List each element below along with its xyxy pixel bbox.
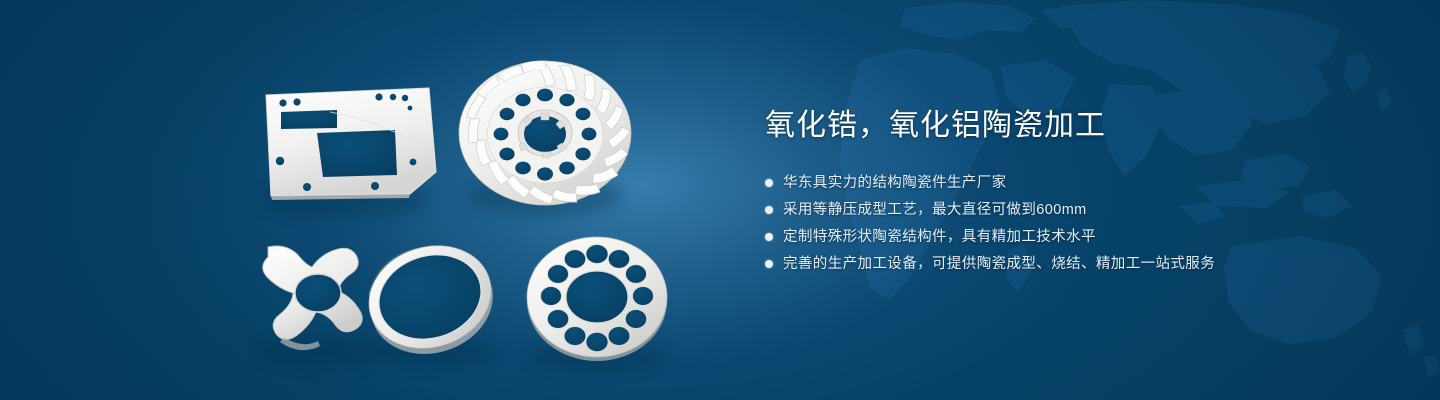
banner-text-column: 氧化锆，氧化铝陶瓷加工 华东具实力的结构陶瓷件生产厂家 采用等静压成型工艺，最大… [765,106,1385,280]
bullet-dot-icon [765,206,773,214]
list-item-label: 采用等静压成型工艺，最大直径可做到600mm [783,199,1087,221]
list-item-label: 华东具实力的结构陶瓷件生产厂家 [783,172,1007,194]
ceramic-cross-vane [263,246,363,350]
product-photo-group [0,0,760,400]
feature-list: 华东具实力的结构陶瓷件生产厂家 采用等静压成型工艺，最大直径可做到600mm 定… [765,172,1385,275]
bullet-dot-icon [765,260,773,268]
hero-banner: 氧化锆，氧化铝陶瓷加工 华东具实力的结构陶瓷件生产厂家 采用等静压成型工艺，最大… [0,0,1440,400]
list-item: 完善的生产加工设备，可提供陶瓷成型、烧结、精加工一站式服务 [765,253,1385,275]
ceramic-mounting-plate [266,88,436,200]
list-item: 定制特殊形状陶瓷结构件，具有精加工技术水平 [765,226,1385,248]
list-item-label: 定制特殊形状陶瓷结构件，具有精加工技术水平 [783,226,1096,248]
page-title: 氧化锆，氧化铝陶瓷加工 [765,106,1385,146]
ceramic-perforated-disc [527,237,667,361]
list-item: 采用等静压成型工艺，最大直径可做到600mm [765,199,1385,221]
bullet-dot-icon [765,179,773,187]
list-item-label: 完善的生产加工设备，可提供陶瓷成型、烧结、精加工一站式服务 [783,253,1215,275]
ceramic-impeller-disc [459,61,631,205]
list-item: 华东具实力的结构陶瓷件生产厂家 [765,172,1385,194]
bullet-dot-icon [765,233,773,241]
